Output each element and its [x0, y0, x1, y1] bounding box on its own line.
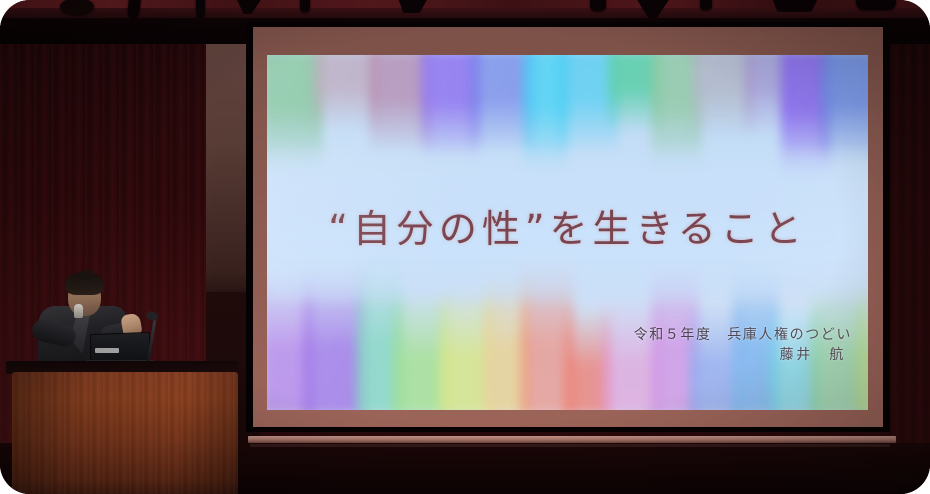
presentation-slide: “自分の性”を生きること 令和５年度 兵庫人権のつどい 藤井 航 — [267, 55, 868, 410]
auditorium-photo: “自分の性”を生きること 令和５年度 兵庫人権のつどい 藤井 航 — [0, 0, 930, 494]
stage-light-icon — [300, 0, 310, 12]
podium-shading — [12, 372, 238, 494]
laptop-screen-glow — [95, 348, 119, 353]
stage-light-icon — [196, 0, 205, 19]
stage-lip — [248, 436, 896, 443]
slide-event-line: 令和５年度 兵庫人権のつどい — [634, 327, 852, 345]
slide-title: “自分の性”を生きること — [267, 198, 868, 253]
stage-curtain-right — [884, 16, 930, 494]
slide-credits: 令和５年度 兵庫人権のつどい 藤井 航 — [634, 327, 852, 366]
stage-light-icon — [772, 0, 818, 12]
speaker-hand-holding-mic — [72, 312, 85, 333]
stage-light-icon — [856, 0, 896, 10]
stage-light-icon — [590, 0, 606, 11]
slide-speaker-name: 藤井 航 — [634, 345, 846, 366]
projection-screen: “自分の性”を生きること 令和５年度 兵庫人権のつどい 藤井 航 — [267, 55, 868, 410]
stage-floor-sheen — [250, 444, 890, 447]
watercolor-stroke — [821, 55, 869, 167]
stage-light-icon — [700, 0, 712, 10]
